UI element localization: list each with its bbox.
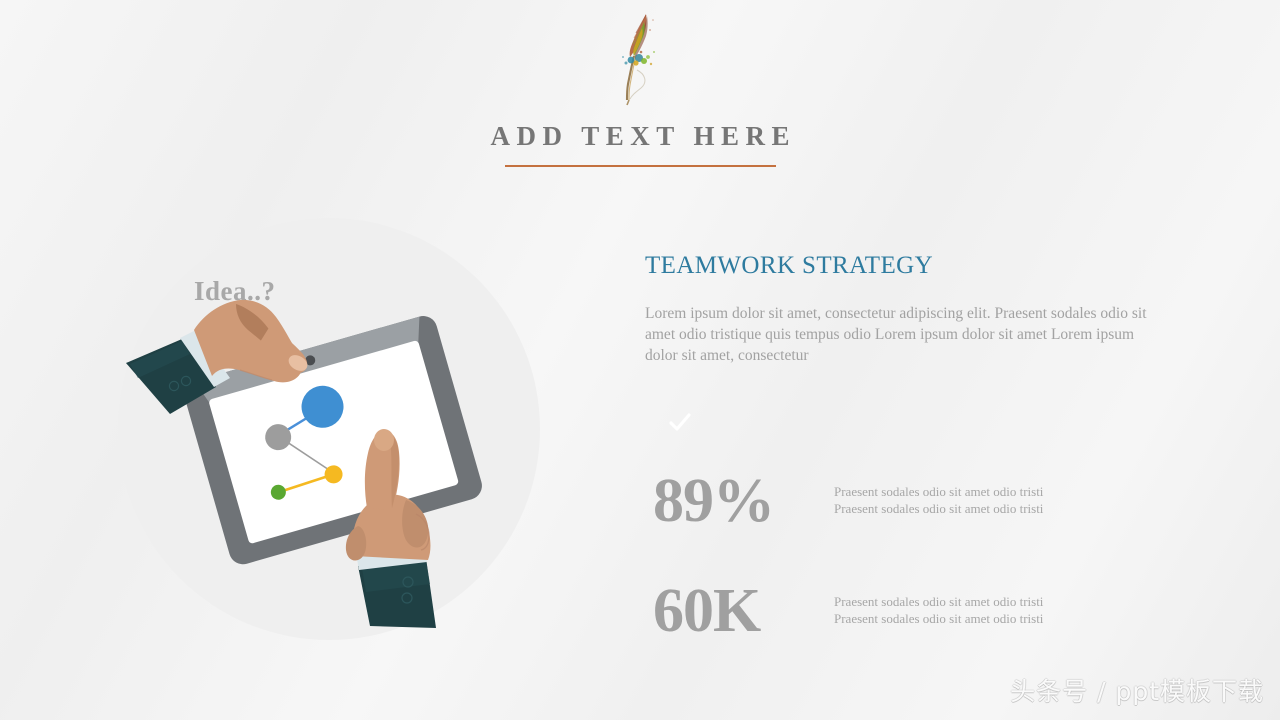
- stat-description-0: Praesent sodales odio sit amet odio tris…: [834, 483, 1049, 517]
- slide-canvas: ADD TEXT HERE Idea..?: [0, 0, 1280, 720]
- watermark-label: 头条号 / ppt模板下载: [1010, 672, 1264, 708]
- stat-row: 89% Praesent sodales odio sit amet odio …: [645, 470, 1185, 580]
- watercolor-quill-pen-icon: [610, 8, 670, 108]
- title-underline-rule: [505, 165, 776, 167]
- stats-list: 89% Praesent sodales odio sit amet odio …: [645, 470, 1185, 690]
- stat-value-0: 89%: [653, 470, 774, 532]
- tablet-illustration: Idea..?: [118, 218, 540, 640]
- check-mark-icon: [667, 410, 693, 436]
- section-body-text: Lorem ipsum dolor sit amet, consectetur …: [645, 303, 1167, 366]
- main-content-column: TEAMWORK STRATEGY Lorem ipsum dolor sit …: [645, 250, 1185, 366]
- two-hands-holding-tablet-illustration: [118, 218, 540, 640]
- page-title: ADD TEXT HERE: [0, 122, 1280, 152]
- slide-header: ADD TEXT HERE: [0, 8, 1280, 167]
- section-title: TEAMWORK STRATEGY: [645, 250, 1185, 281]
- stat-description-1: Praesent sodales odio sit amet odio tris…: [834, 593, 1049, 627]
- stat-value-1: 60K: [653, 580, 760, 642]
